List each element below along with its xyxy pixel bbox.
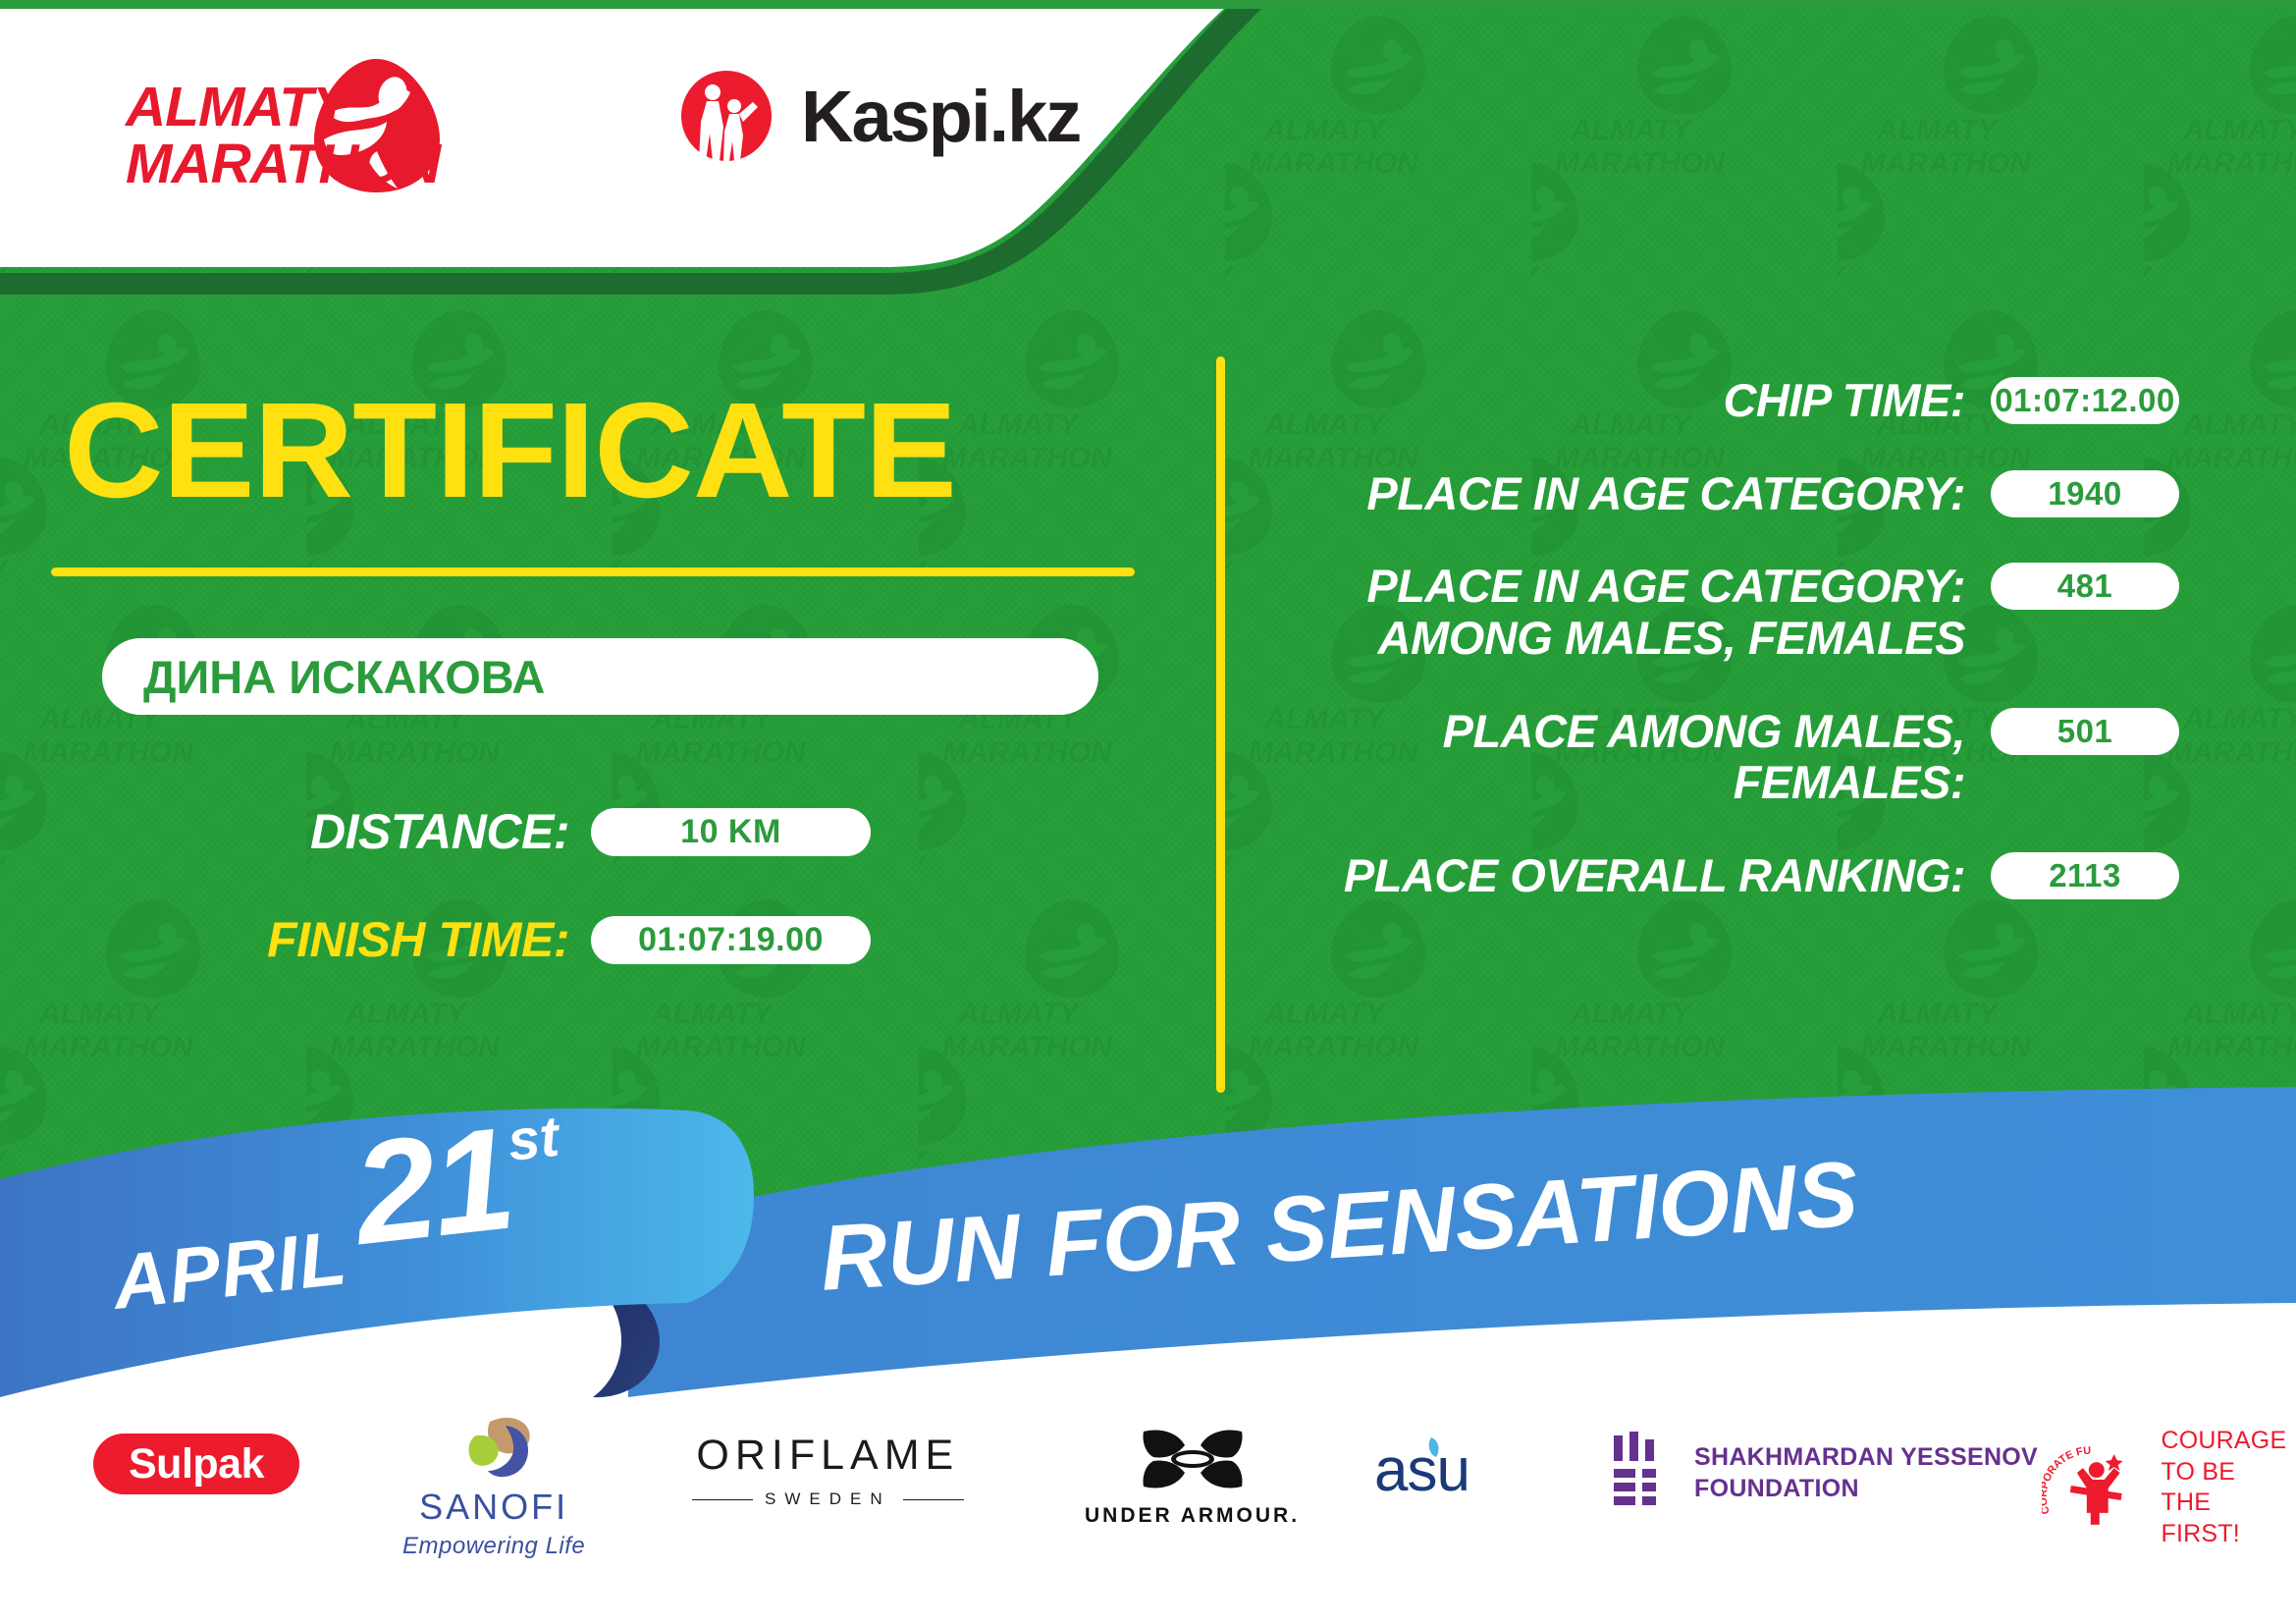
- oriflame-sweden-text: SWEDEN: [765, 1489, 891, 1509]
- place-age-category-gender-value: 481: [1991, 563, 2179, 610]
- sponsor-sulpak: Sulpak: [93, 1434, 299, 1494]
- under-armour-wordmark: UNDER ARMOUR.: [1085, 1504, 1300, 1528]
- sponsor-courage-fund: CORPORATE FUND COURAGETO BETHE FIRST!: [2042, 1426, 2296, 1549]
- almaty-marathon-wordmark: ALMATY MARATHON: [126, 79, 440, 192]
- sanofi-mark-icon: [447, 1414, 541, 1483]
- participant-name-value: ДИНА ИСКАКОВА: [102, 650, 545, 704]
- svg-text:asu: asu: [1374, 1436, 1469, 1504]
- event-day-suffix: st: [505, 1104, 562, 1174]
- kaspi-logo: Kaspi.kz: [677, 67, 1080, 165]
- yessenov-foundation-line: FOUNDATION: [1694, 1475, 1859, 1502]
- asu-logo-icon: asu: [1374, 1426, 1522, 1510]
- yessenov-bars-icon: [1610, 1432, 1673, 1514]
- distance-row: DISTANCE: 10 KM: [157, 803, 871, 860]
- place-overall-label: PLACE OVERALL RANKING:: [1276, 848, 1991, 902]
- chip-time-label: CHIP TIME:: [1276, 373, 1991, 427]
- finish-time-label: FINISH TIME:: [157, 911, 569, 968]
- top-green-rule: [0, 0, 2296, 9]
- certificate-title: CERTIFICATE: [64, 383, 956, 518]
- certificate-canvas: ALMATY MARATHON: [0, 0, 2296, 1624]
- sanofi-wordmark: SANOFI: [419, 1487, 568, 1528]
- header-logo-row: ALMATY MARATHON Kaspi.kz: [0, 0, 1296, 275]
- kaspi-wordmark: Kaspi.kz: [801, 75, 1080, 158]
- place-age-category-label: PLACE IN AGE CATEGORY:: [1276, 466, 1991, 520]
- courage-runner-icon: CORPORATE FUND: [2042, 1442, 2148, 1533]
- yessenov-name-line: SHAKHMARDAN YESSENOV: [1694, 1443, 2038, 1471]
- stat-row-place-age-category-gender: PLACE IN AGE CATEGORY:AMONG MALES, FEMAL…: [1276, 559, 2179, 664]
- sponsor-asu: asu: [1374, 1426, 1522, 1510]
- sponsor-under-armour: UNDER ARMOUR.: [1085, 1426, 1300, 1528]
- vertical-yellow-divider: [1216, 356, 1225, 1093]
- courage-wordmark: COURAGETO BETHE FIRST!: [2162, 1426, 2296, 1549]
- place-overall-value: 2113: [1991, 852, 2179, 899]
- finish-time-row: FINISH TIME: 01:07:19.00: [157, 911, 871, 968]
- oriflame-subline: SWEDEN: [692, 1489, 964, 1509]
- stat-row-place-overall: PLACE OVERALL RANKING: 2113: [1276, 848, 2179, 902]
- place-among-gender-value: 501: [1991, 708, 2179, 755]
- almaty-wordmark-line1: ALMATY: [126, 79, 440, 135]
- place-among-gender-label: PLACE AMONG MALES,FEMALES:: [1276, 704, 1991, 809]
- place-age-category-gender-label: PLACE IN AGE CATEGORY:AMONG MALES, FEMAL…: [1276, 559, 1991, 664]
- sponsor-oriflame: ORIFLAME SWEDEN: [692, 1432, 964, 1509]
- title-underline-rule: [51, 568, 1135, 576]
- finish-time-value: 01:07:19.00: [591, 916, 871, 964]
- distance-label: DISTANCE:: [157, 803, 569, 860]
- place-age-category-value: 1940: [1991, 470, 2179, 517]
- under-armour-icon: [1134, 1426, 1252, 1496]
- oriflame-rule-right: [903, 1499, 964, 1500]
- almaty-marathon-logo: ALMATY MARATHON: [126, 55, 450, 202]
- stat-row-place-age-category: PLACE IN AGE CATEGORY: 1940: [1276, 466, 2179, 520]
- kaspi-people-icon: [677, 67, 775, 165]
- oriflame-rule-left: [692, 1499, 753, 1500]
- sponsor-yessenov-foundation: SHAKHMARDAN YESSENOV FOUNDATION: [1610, 1432, 2038, 1514]
- sanofi-tagline: Empowering Life: [402, 1533, 585, 1560]
- event-day: 21: [347, 1096, 519, 1278]
- sponsor-logo-row: Sulpak SANOFI Empowering Life ORIFLAME S…: [0, 1414, 2296, 1591]
- oriflame-wordmark: ORIFLAME: [696, 1432, 959, 1480]
- chip-time-value: 01:07:12.00: [1991, 377, 2179, 424]
- distance-value: 10 KM: [591, 808, 871, 856]
- participant-name-field: ДИНА ИСКАКОВА: [102, 638, 1098, 715]
- stat-row-chip-time: CHIP TIME: 01:07:12.00: [1276, 373, 2179, 427]
- almaty-wordmark-line2: MARATHON: [126, 135, 440, 192]
- results-stats-panel: CHIP TIME: 01:07:12.00 PLACE IN AGE CATE…: [1276, 373, 2179, 941]
- yessenov-wordmark: SHAKHMARDAN YESSENOV FOUNDATION: [1694, 1441, 2038, 1504]
- stat-row-place-among-gender: PLACE AMONG MALES,FEMALES: 501: [1276, 704, 2179, 809]
- sponsor-sanofi: SANOFI Empowering Life: [402, 1414, 585, 1560]
